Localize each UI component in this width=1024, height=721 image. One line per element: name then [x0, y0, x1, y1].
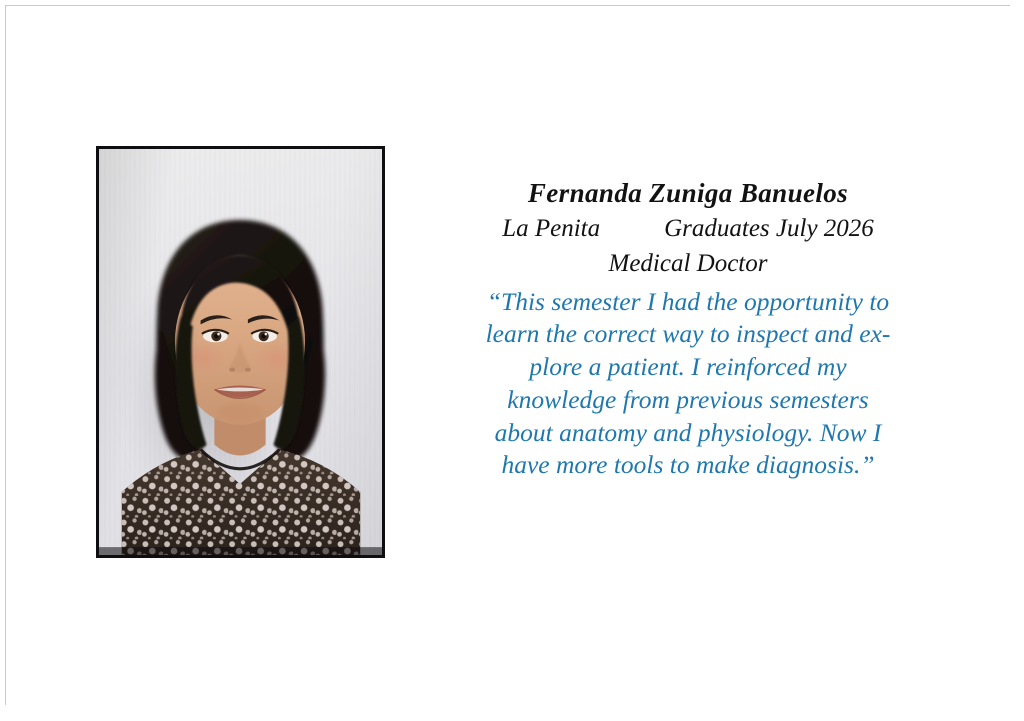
quote-line: “This semester I had the opportunity to: [420, 286, 956, 319]
student-name: Fernanda Zuniga Banuelos: [418, 180, 958, 207]
scan-edge-left-line: [5, 5, 6, 705]
student-program: Medical Doctor: [418, 248, 958, 279]
photo-background: [99, 149, 382, 555]
quote-line: plore a patient. I reinforced my: [420, 351, 956, 384]
student-quote: “This semester I had the opportunity to …: [418, 286, 958, 483]
profile-card-page: Fernanda Zuniga Banuelos La Penita Gradu…: [0, 0, 1024, 721]
quote-line: have more tools to make diagnosis.”: [420, 449, 956, 482]
quote-line: about anatomy and physiology. Now I: [420, 417, 956, 450]
quote-line: learn the correct way to inspect and ex-: [420, 318, 956, 351]
profile-text-block: Fernanda Zuniga Banuelos La Penita Gradu…: [418, 180, 958, 482]
student-location: La Penita: [502, 213, 600, 244]
quote-line: knowledge from previous semesters: [420, 384, 956, 417]
scan-edge-top-line: [6, 5, 1010, 6]
student-meta-row: La Penita Graduates July 2026: [418, 213, 958, 244]
student-graduation-date: Graduates July 2026: [664, 213, 874, 244]
portrait-illustration: [99, 149, 382, 555]
student-portrait-photo: [96, 146, 385, 558]
